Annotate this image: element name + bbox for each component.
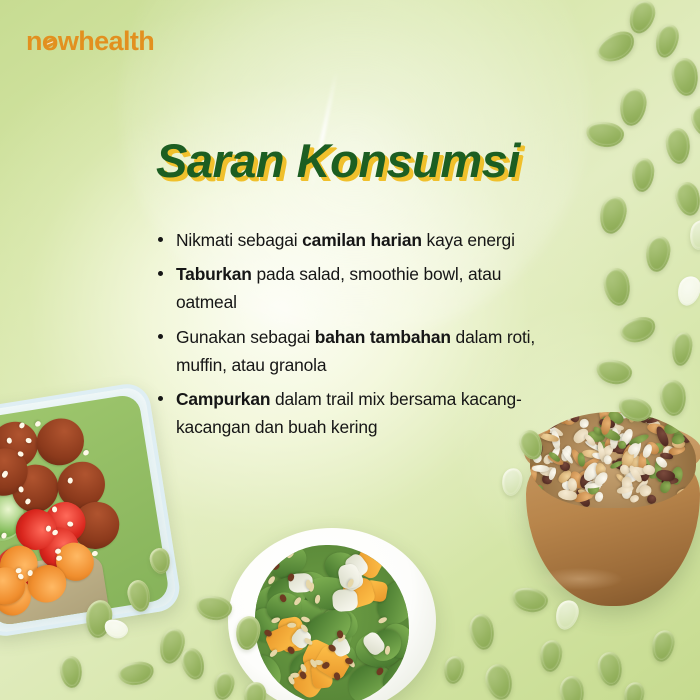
page-title: Saran Konsumsi (156, 136, 520, 186)
brand-logo-o-letter: o (42, 28, 58, 55)
food-detail (18, 486, 24, 493)
bullet-text-lead: Gunakan sebagai (176, 327, 315, 347)
white-plate (228, 528, 436, 700)
list-item: Campurkan dalam trail mix bersama kacang… (155, 385, 555, 441)
food-detail (82, 449, 90, 456)
food-detail (579, 418, 588, 427)
trail-mix-bowl-photo (524, 418, 700, 623)
brand-logo-text-part-1: n (26, 26, 42, 56)
food-detail (332, 588, 358, 612)
food-detail (646, 493, 658, 505)
brand-logo-text-part-3: whealth (58, 26, 154, 56)
food-detail (629, 494, 640, 504)
salad-plate-photo (228, 528, 436, 700)
bullet-text-lead: Nikmati sebagai (176, 230, 302, 250)
food-detail (34, 420, 42, 427)
food-detail (287, 623, 296, 628)
bullet-text-bold: Campurkan (176, 389, 270, 409)
list-item: Taburkan pada salad, smoothie bowl, atau… (155, 260, 555, 316)
bullet-text-tail: kaya energi (422, 230, 515, 250)
bullet-text-bold: camilan harian (302, 230, 422, 250)
bowl-highlight (538, 568, 622, 590)
food-detail (67, 477, 73, 484)
bullet-text-bold: Taburkan (176, 264, 252, 284)
brand-logo-text: nowhealth (26, 28, 154, 55)
salad-contents (255, 545, 409, 700)
promotional-poster: nowhealth Saran Konsumsi Nikmati sebagai… (0, 0, 700, 700)
food-detail (91, 550, 98, 557)
list-item: Gunakan sebagai bahan tambahan dalam rot… (155, 323, 555, 379)
consumption-tips-list: Nikmati sebagai camilan harian kaya ener… (155, 226, 555, 447)
brand-logo[interactable]: nowhealth (26, 28, 154, 55)
food-detail (532, 464, 550, 471)
bullet-text-bold: bahan tambahan (315, 327, 451, 347)
list-item: Nikmati sebagai camilan harian kaya ener… (155, 226, 555, 254)
